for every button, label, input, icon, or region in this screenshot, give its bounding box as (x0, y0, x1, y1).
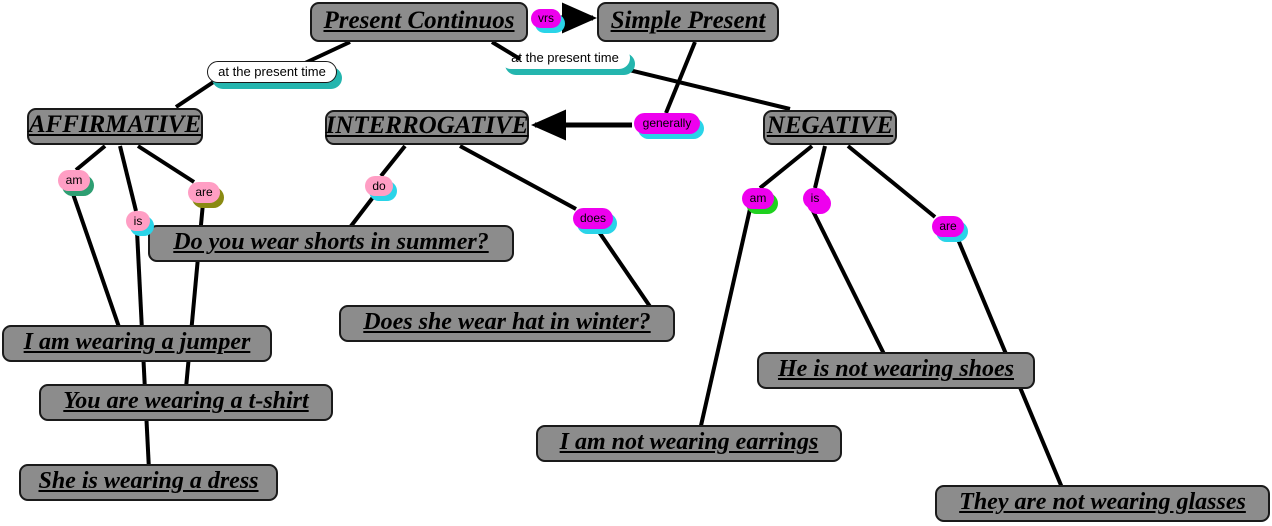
concept-node-they-are-not-wearing-glasses[interactable]: They are not wearing glasses (935, 485, 1270, 522)
edge-line (381, 146, 405, 176)
concept-node-label: AFFIRMATIVE (29, 112, 201, 138)
edge-line (120, 146, 136, 211)
concept-node-label: I am not wearing earrings (560, 430, 819, 455)
edge-line (72, 191, 120, 330)
concept-node-label: They are not wearing glasses (959, 490, 1246, 515)
concept-node-i-am-not-wearing-earrings[interactable]: I am not wearing earrings (536, 425, 842, 462)
concept-node-present-continuos[interactable]: Present Continuos (310, 2, 528, 42)
link-pill-label: am (66, 174, 83, 186)
link-pill-label: am (750, 192, 767, 204)
concept-node-label: Simple Present (611, 8, 766, 34)
edge-line (460, 146, 576, 209)
link-pill-neg-is[interactable]: is (803, 188, 827, 209)
concept-node-i-am-wearing-jumper[interactable]: I am wearing a jumper (2, 325, 272, 362)
concept-node-label: INTERROGATIVE (326, 113, 529, 139)
link-label-text: at the present time (218, 65, 326, 78)
concept-node-label: Does she wear hat in winter? (363, 310, 650, 335)
link-pill-generally[interactable]: generally (634, 113, 700, 134)
link-pill-label: are (939, 220, 956, 232)
concept-node-negative[interactable]: NEGATIVE (763, 110, 897, 145)
link-label-text: at the present time (511, 51, 619, 64)
edge-line (76, 146, 105, 170)
concept-node-simple-present[interactable]: Simple Present (597, 2, 779, 42)
link-pill-label: are (195, 186, 212, 198)
concept-node-do-you-wear-shorts[interactable]: Do you wear shorts in summer? (148, 225, 514, 262)
link-label-at-present-time-left[interactable]: at the present time (207, 61, 337, 83)
concept-node-label: I am wearing a jumper (24, 330, 251, 355)
link-pill-neg-are[interactable]: are (932, 216, 964, 237)
edge-line (848, 146, 935, 217)
link-pill-label: is (811, 192, 820, 204)
concept-node-affirmative[interactable]: AFFIRMATIVE (27, 108, 203, 145)
edge-line (138, 146, 194, 182)
edge-line (812, 209, 885, 356)
link-pill-label: does (580, 212, 606, 224)
edge-line (625, 69, 790, 109)
concept-node-label: She is wearing a dress (38, 469, 258, 494)
concept-node-you-are-wearing-tshirt[interactable]: You are wearing a t-shirt (39, 384, 333, 421)
edge-line (815, 146, 825, 188)
link-pill-label: vrs (538, 12, 554, 24)
concept-node-label: He is not wearing shoes (778, 357, 1014, 382)
link-pill-neg-am[interactable]: am (742, 188, 774, 209)
link-pill-vrs[interactable]: vrs (531, 9, 561, 28)
link-label-at-present-time-right[interactable]: at the present time (500, 47, 630, 69)
edge-line (597, 229, 651, 308)
link-pill-label: do (372, 180, 385, 192)
edge-line (760, 146, 812, 188)
concept-map-canvas: Present ContinuosSimple PresentAFFIRMATI… (0, 0, 1272, 526)
concept-node-she-is-wearing-dress[interactable]: She is wearing a dress (19, 464, 278, 501)
link-pill-aff-is[interactable]: is (126, 211, 150, 231)
edge-line (666, 42, 695, 113)
concept-node-interrogative[interactable]: INTERROGATIVE (325, 110, 529, 145)
edge-line (700, 209, 750, 430)
edge-line (176, 79, 218, 107)
concept-node-label: NEGATIVE (767, 113, 893, 139)
link-pill-aff-am[interactable]: am (58, 170, 90, 191)
link-pill-int-does[interactable]: does (573, 208, 613, 229)
concept-node-label: Present Continuos (323, 8, 514, 34)
concept-node-label: You are wearing a t-shirt (63, 389, 308, 414)
concept-node-he-is-not-wearing-shoes[interactable]: He is not wearing shoes (757, 352, 1035, 389)
link-pill-label: generally (643, 117, 692, 129)
concept-node-label: Do you wear shorts in summer? (173, 230, 488, 255)
link-pill-label: is (134, 215, 143, 227)
concept-node-does-she-wear-hat[interactable]: Does she wear hat in winter? (339, 305, 675, 342)
link-pill-int-do[interactable]: do (365, 176, 393, 196)
link-pill-aff-are[interactable]: are (188, 182, 220, 203)
